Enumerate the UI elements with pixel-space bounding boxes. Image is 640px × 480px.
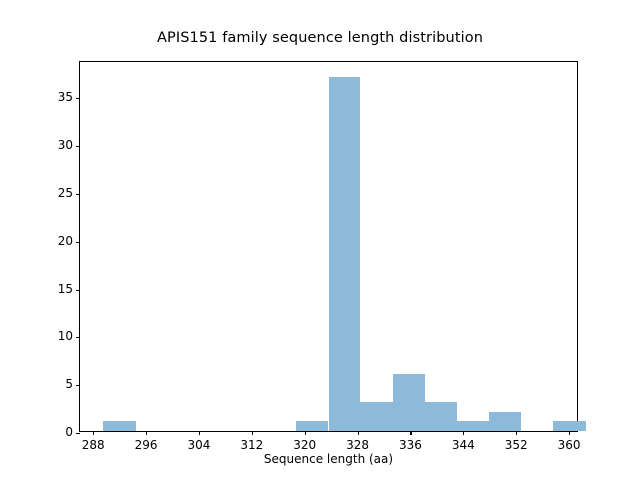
- y-tick-label: 30: [58, 138, 73, 152]
- y-tick-mark: [76, 385, 80, 386]
- y-tick-mark: [76, 242, 80, 243]
- x-axis-label: Sequence length (aa): [79, 452, 578, 466]
- x-tick-mark: [305, 431, 306, 435]
- x-tick-mark: [358, 431, 359, 435]
- x-tick-mark: [516, 431, 517, 435]
- x-tick-label: 288: [82, 438, 105, 452]
- x-tick-mark: [93, 431, 94, 435]
- x-tick-label: 360: [558, 438, 581, 452]
- x-tick-mark: [569, 431, 570, 435]
- figure-canvas: APIS151 family sequence length distribut…: [0, 0, 640, 480]
- y-tick-mark: [76, 146, 80, 147]
- y-tick-label: 35: [58, 90, 73, 104]
- y-tick-mark: [76, 194, 80, 195]
- y-tick-mark: [76, 433, 80, 434]
- histogram-bar: [329, 77, 361, 431]
- histogram-bar: [489, 412, 521, 431]
- y-tick-label: 5: [65, 377, 73, 391]
- x-tick-label: 312: [240, 438, 263, 452]
- y-tick-label: 15: [58, 282, 73, 296]
- x-tick-label: 344: [452, 438, 475, 452]
- x-tick-mark: [146, 431, 147, 435]
- y-tick-label: 10: [58, 329, 73, 343]
- y-tick-label: 0: [65, 425, 73, 439]
- y-tick-mark: [76, 290, 80, 291]
- x-tick-mark: [252, 431, 253, 435]
- histogram-bar: [296, 421, 328, 431]
- x-tick-mark: [463, 431, 464, 435]
- histogram-bar: [553, 421, 585, 431]
- histogram-bar: [103, 421, 135, 431]
- x-tick-label: 336: [399, 438, 422, 452]
- histogram-bar: [457, 421, 489, 431]
- x-tick-label: 352: [505, 438, 528, 452]
- histogram-bar: [393, 374, 425, 431]
- y-tick-mark: [76, 337, 80, 338]
- y-tick-label: 20: [58, 234, 73, 248]
- x-tick-label: 296: [135, 438, 158, 452]
- x-tick-mark: [410, 431, 411, 435]
- x-tick-label: 304: [188, 438, 211, 452]
- y-tick-mark: [76, 98, 80, 99]
- histogram-bar: [425, 402, 457, 431]
- x-tick-label: 320: [293, 438, 316, 452]
- y-tick-label: 25: [58, 186, 73, 200]
- chart-title: APIS151 family sequence length distribut…: [0, 30, 640, 46]
- x-tick-mark: [199, 431, 200, 435]
- x-tick-label: 328: [346, 438, 369, 452]
- bars-layer: [80, 62, 577, 431]
- plot-area: 05101520253035 2882963043123203283363443…: [79, 61, 578, 432]
- histogram-bar: [360, 402, 392, 431]
